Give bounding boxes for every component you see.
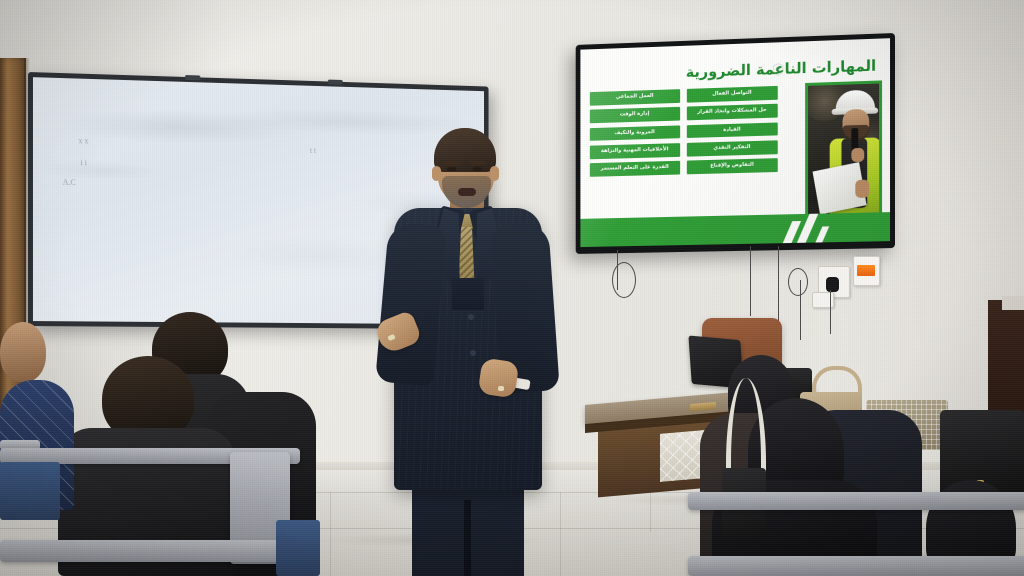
tv-cable-loop (612, 262, 636, 298)
right-wood-cabinet-top (1002, 296, 1024, 310)
presenter-ring (498, 386, 504, 391)
tv-cable (778, 246, 779, 326)
whiteboard-mark: i i (81, 158, 87, 167)
whiteboard-mark: A.C (63, 178, 76, 187)
skill-chip: إدارة الوقت (590, 107, 680, 123)
slide-skill-chips: التواصل الفعال حل المشكلات واتخاذ القرار… (590, 86, 778, 177)
tv-cable (750, 246, 751, 316)
bench-seat-rail[interactable] (688, 492, 1024, 510)
slide-column-left: العمل الجماعي إدارة الوقت المرونة والتكي… (590, 89, 680, 177)
presenter-hair (434, 128, 496, 172)
skill-chip: الأخلاقيات المهنية والنزاهة (590, 143, 680, 159)
whiteboard-mark: t t (310, 146, 316, 155)
presenter-brow (470, 161, 486, 165)
skill-chip: القدرة على التعلم المستمر (590, 161, 680, 177)
wall-fixture (996, 135, 1009, 147)
presenter-jacket-opening (452, 278, 484, 310)
wall-mounted-tv[interactable]: المهارات الناعمة الضرورية التواصل الفعال… (576, 33, 895, 254)
presenter-eye (447, 167, 456, 171)
wire-loop (788, 268, 808, 296)
skill-chip: التفاوض والإقناع (686, 158, 777, 174)
presenter-jacket-button (470, 350, 476, 356)
skill-chip: حل المشكلات واتخاذ القرار (686, 104, 777, 120)
presenter-ear (432, 166, 441, 181)
power-plug[interactable] (826, 277, 839, 292)
breaker-switch[interactable] (857, 265, 875, 276)
classroom-presentation-scene: A.C x x i i t t المهارات الناعمة الضروري… (0, 0, 1024, 576)
presenter-speaker (372, 128, 562, 576)
skill-chip: القيادة (686, 122, 777, 138)
skill-chip: المرونة والتكيف (590, 125, 680, 141)
emblem-logo-icon (773, 63, 784, 76)
whiteboard-clip (328, 80, 343, 85)
presenter-hand-right (478, 358, 520, 399)
floor-tile-line (330, 492, 331, 576)
presenter-brow (444, 161, 460, 165)
presenter-eye (473, 167, 482, 171)
presenter-trouser-split (464, 500, 471, 576)
whiteboard-mark: x x (79, 136, 89, 145)
presenter-jacket-button (468, 314, 474, 320)
breaker-box[interactable] (853, 256, 880, 286)
bench-seat-rail[interactable] (688, 556, 1024, 576)
slide-footer-band (580, 212, 890, 247)
plug-wire (830, 290, 831, 334)
slide-photo-construction-worker (805, 80, 882, 227)
skill-chip: التواصل الفعال (686, 86, 777, 103)
seat-cushion[interactable] (276, 520, 320, 576)
slide-column-right: التواصل الفعال حل المشكلات واتخاذ القرار… (686, 86, 777, 174)
skill-chip: التفكير النقدي (686, 140, 777, 156)
seat-cushion[interactable] (0, 462, 60, 520)
bench-seat-rail[interactable] (0, 540, 300, 562)
skill-chip: العمل الجماعي (590, 89, 680, 105)
presenter-mouth (458, 188, 476, 196)
whiteboard-clip (185, 75, 200, 80)
tv-screen: المهارات الناعمة الضرورية التواصل الفعال… (580, 38, 890, 247)
presenter-ear (490, 166, 499, 181)
